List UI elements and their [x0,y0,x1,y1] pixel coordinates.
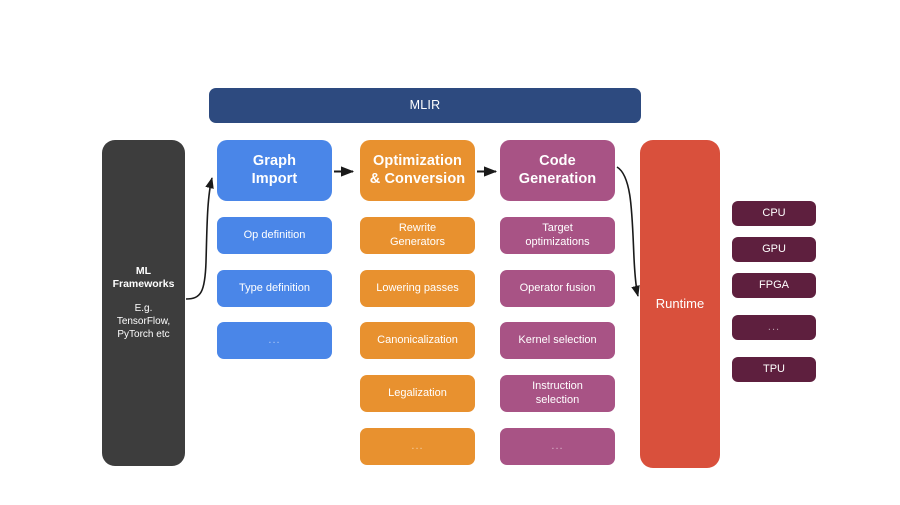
ml-frameworks-box: ML Frameworks E.g. TensorFlow, PyTorch e… [102,140,185,466]
stage-item-code-generation-more: ... [500,428,615,465]
stage-item-optimization-more: ... [360,428,475,465]
stage-item-op-definition: Op definition [217,217,332,254]
stage-item-legalization: Legalization [360,375,475,412]
stage-header-optimization-conversion: Optimization & Conversion [360,140,475,201]
stage-item-rewrite-generators: Rewrite Generators [360,217,475,254]
stage-item-canonicalization: Canonicalization [360,322,475,359]
stage-header-graph-import: Graph Import [217,140,332,201]
stage-item-instruction-selection: Instruction selection [500,375,615,412]
stage-item-lowering-passes: Lowering passes [360,270,475,307]
stage-item-target-optimizations: Target optimizations [500,217,615,254]
ml-frameworks-title: ML Frameworks [113,265,175,291]
diagram-canvas: MLIR ML Frameworks E.g. TensorFlow, PyTo… [0,0,900,505]
stage-item-type-definition: Type definition [217,270,332,307]
ml-frameworks-subtitle: E.g. TensorFlow, PyTorch etc [117,302,170,341]
mlir-bar: MLIR [209,88,641,123]
target-chip-gpu: GPU [732,237,816,262]
runtime-box: Runtime [640,140,720,468]
arrow-code-generation-to-runtime [617,167,638,296]
target-chip-fpga: FPGA [732,273,816,298]
stage-header-code-generation: Code Generation [500,140,615,201]
target-chip-cpu: CPU [732,201,816,226]
stage-item-graph-import-more: ... [217,322,332,359]
arrow-frameworks-to-graph-import [186,178,212,299]
target-chip-more: ... [732,315,816,340]
target-chip-tpu: TPU [732,357,816,382]
stage-item-operator-fusion: Operator fusion [500,270,615,307]
stage-item-kernel-selection: Kernel selection [500,322,615,359]
